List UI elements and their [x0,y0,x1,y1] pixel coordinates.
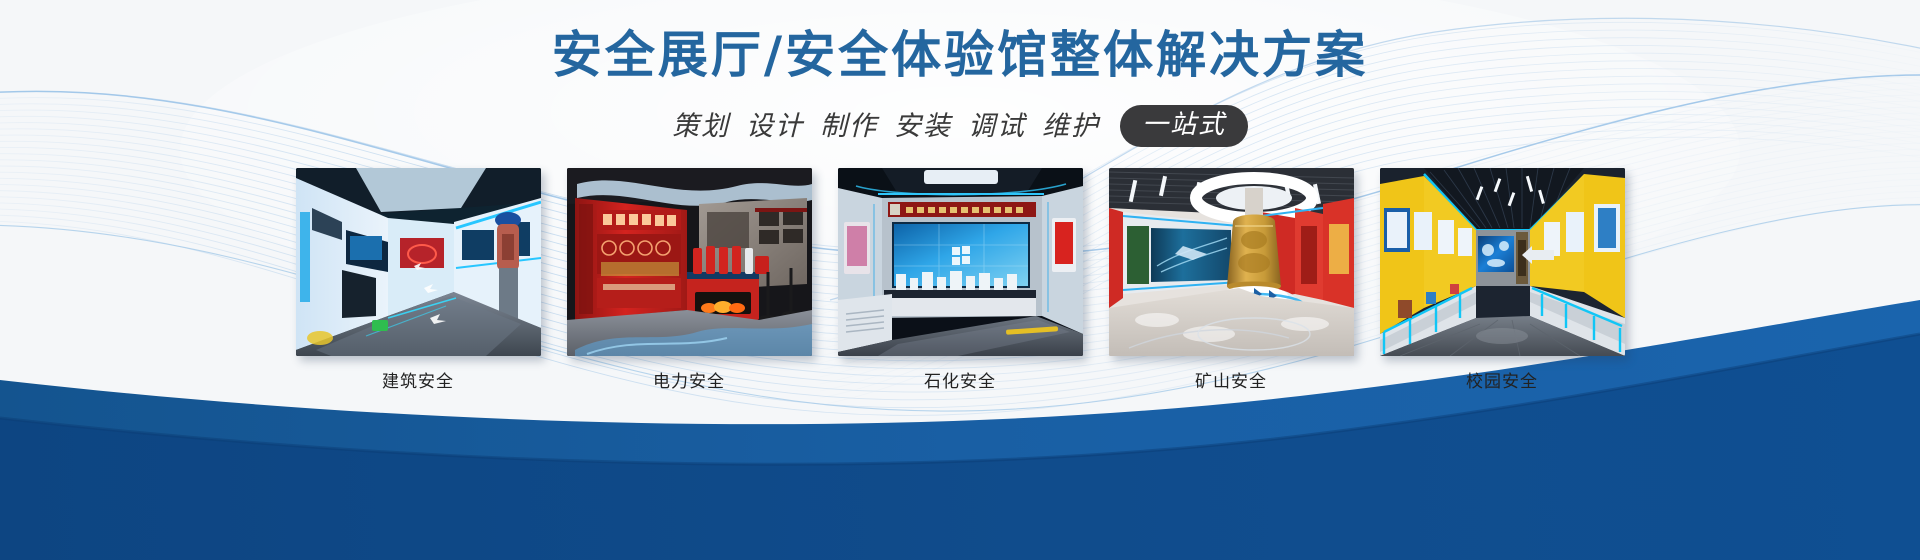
service-step-design: 设计 [746,113,804,140]
exhibition-hall-photo-campus[interactable] [1380,168,1625,356]
showcase-card-caption: 矿山安全 [1195,374,1267,391]
service-step-maintenance: 维护 [1042,113,1100,140]
showcase-card[interactable]: 矿山安全 [1109,168,1354,391]
service-steps-row: 策划 设计 制作 安装 调试 维护 一站式 [0,80,1920,147]
showcase-card-caption: 校园安全 [1466,374,1538,391]
headline-block: 安全展厅/安全体验馆整体解决方案 策划 设计 制作 安装 调试 维护 一站式 [0,0,1920,147]
showcase-card-row: 建筑安全 [0,168,1920,391]
exhibition-hall-photo-mining[interactable] [1109,168,1354,356]
service-step-debugging: 调试 [968,113,1026,140]
page-title: 安全展厅/安全体验馆整体解决方案 [0,0,1920,80]
showcase-card-caption: 电力安全 [653,374,725,391]
showcase-card[interactable]: 电力安全 [567,168,812,391]
petrochemical-hall-illustration [838,168,1083,356]
mining-hall-illustration [1109,168,1354,356]
one-stop-badge: 一站式 [1120,105,1248,147]
showcase-card[interactable]: 建筑安全 [296,168,541,391]
campus-hall-illustration [1380,168,1625,356]
exhibition-hall-photo-construction[interactable] [296,168,541,356]
exhibition-hall-photo-petrochemical[interactable] [838,168,1083,356]
construction-hall-illustration [296,168,541,356]
promo-banner: 安全展厅/安全体验馆整体解决方案 策划 设计 制作 安装 调试 维护 一站式 [0,0,1920,560]
service-step-installation: 安装 [894,113,952,140]
showcase-card-caption: 石化安全 [924,374,996,391]
showcase-card-caption: 建筑安全 [382,374,454,391]
service-step-planning: 策划 [672,113,730,140]
service-step-production: 制作 [820,113,878,140]
showcase-card[interactable]: 校园安全 [1380,168,1625,391]
power-hall-illustration [567,168,812,356]
exhibition-hall-photo-power[interactable] [567,168,812,356]
showcase-card[interactable]: 石化安全 [838,168,1083,391]
